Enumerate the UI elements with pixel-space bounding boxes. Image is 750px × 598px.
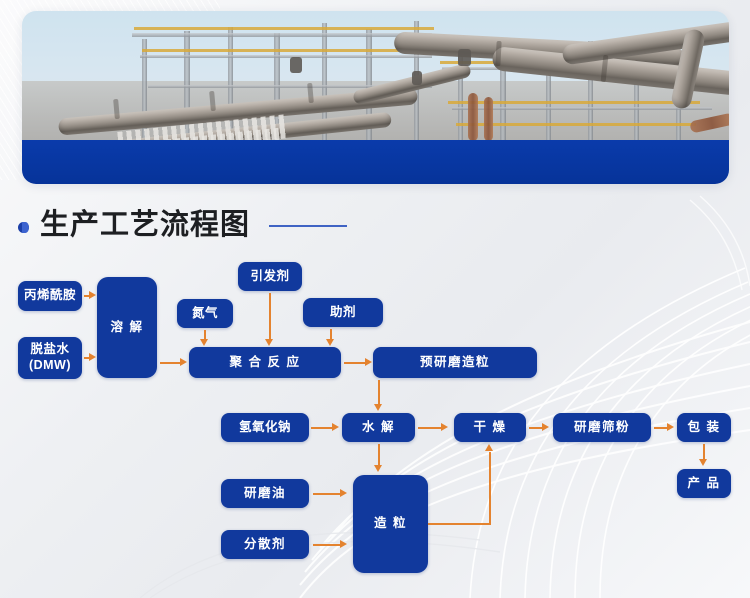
flow-node-hydrolysis[interactable]: 水 解: [342, 413, 415, 442]
edge-dissolve-polymerization: [160, 362, 181, 364]
flow-node-granulation[interactable]: 造 粒: [353, 475, 428, 573]
flow-node-additive[interactable]: 助剂: [303, 298, 383, 327]
edge-hydrolysis-drying: [418, 427, 442, 429]
edge-arrowhead: [340, 540, 347, 548]
edge-hydrolysis-granulation: [378, 444, 380, 466]
flow-node-drying[interactable]: 干 燥: [454, 413, 526, 442]
flow-node-product[interactable]: 产 品: [677, 469, 731, 498]
flow-node-milling-sieving[interactable]: 研磨筛粉: [553, 413, 651, 442]
edge-arrowhead: [326, 339, 334, 346]
edge-granulation-drying-h: [428, 523, 490, 525]
edge-arrowhead: [89, 353, 96, 361]
flow-node-packaging[interactable]: 包 装: [677, 413, 731, 442]
flow-node-initiator[interactable]: 引发剂: [238, 262, 302, 291]
flow-node-dispersant[interactable]: 分散剂: [221, 530, 309, 559]
flow-node-pre-grinding-granulation[interactable]: 预研磨造粒: [373, 347, 537, 378]
edge-arrowhead: [485, 444, 493, 451]
edge-arrowhead: [699, 459, 707, 466]
edge-initiator-polymerization: [269, 293, 271, 340]
edge-arrowhead: [365, 358, 372, 366]
flow-node-dmw[interactable]: 脱盐水 (DMW): [18, 337, 82, 379]
process-flow-diagram: 丙烯酰胺 脱盐水 (DMW) 溶 解 氮气 引发剂 助剂 聚 合 反 应 预研磨…: [0, 0, 750, 598]
edge-granulation-drying-v: [489, 452, 491, 525]
edge-arrowhead: [265, 339, 273, 346]
edge-packaging-product: [703, 444, 705, 460]
edge-arrowhead: [180, 358, 187, 366]
edge-arrowhead: [89, 291, 96, 299]
edge-arrowhead: [542, 423, 549, 431]
edge-pregranulation-hydrolysis: [378, 380, 380, 405]
edge-arrowhead: [332, 423, 339, 431]
edge-arrowhead: [374, 404, 382, 411]
edge-millsieve-packaging: [654, 427, 668, 429]
flow-node-dissolve[interactable]: 溶 解: [97, 277, 157, 378]
edge-arrowhead: [374, 465, 382, 472]
flow-node-acrylamide[interactable]: 丙烯酰胺: [18, 281, 82, 311]
edge-arrowhead: [200, 339, 208, 346]
flow-node-nitrogen[interactable]: 氮气: [177, 299, 233, 328]
edge-grindingoil-granulation: [313, 493, 341, 495]
edge-dispersant-granulation: [313, 544, 341, 546]
edge-arrowhead: [441, 423, 448, 431]
edge-polymerization-pregranulation: [344, 362, 366, 364]
edge-arrowhead: [667, 423, 674, 431]
flow-node-grinding-oil[interactable]: 研磨油: [221, 479, 309, 508]
flow-node-sodium-hydroxide[interactable]: 氢氧化钠: [221, 413, 309, 442]
flow-node-polymerization[interactable]: 聚 合 反 应: [189, 347, 341, 378]
edge-drying-millsieve: [529, 427, 543, 429]
edge-naoh-hydrolysis: [311, 427, 333, 429]
edge-arrowhead: [340, 489, 347, 497]
